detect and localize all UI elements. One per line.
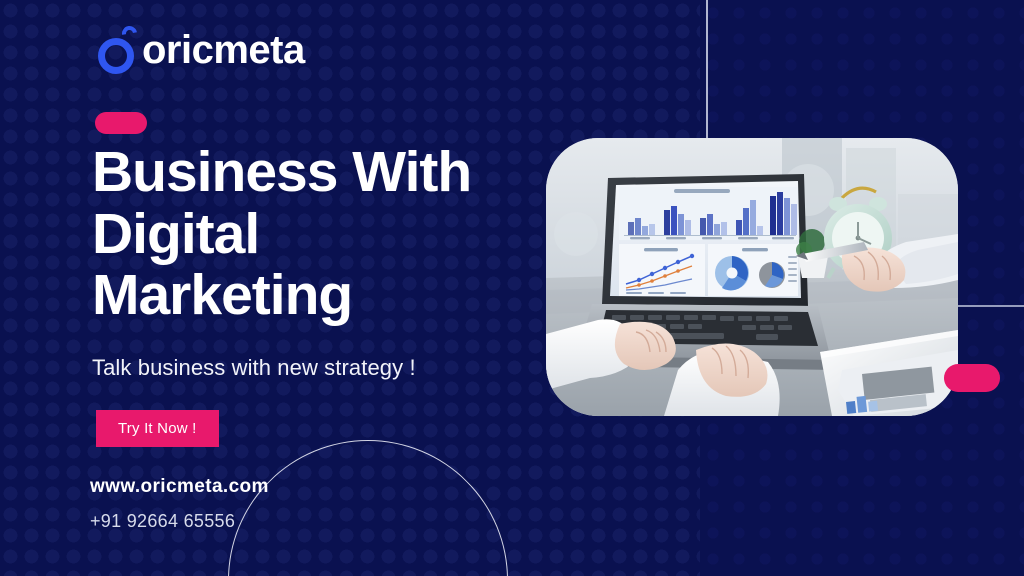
headline-line-2: Digital: [92, 204, 562, 266]
contact-info: www.oricmeta.com +91 92664 65556: [90, 476, 269, 532]
laptop-desk-illustration: [546, 138, 958, 416]
pink-pill-top-accent: [95, 112, 147, 134]
o-ring-logo-icon: [96, 26, 144, 74]
vertical-guide-line: [706, 0, 708, 142]
try-it-now-button[interactable]: Try It Now !: [96, 410, 219, 447]
hero-photo: [546, 138, 958, 416]
website-link[interactable]: www.oricmeta.com: [90, 476, 269, 498]
marketing-banner: oricmeta Business With Digital Marketing…: [0, 0, 1024, 576]
headline-line-1: Business With: [92, 142, 562, 204]
horizontal-guide-line: [956, 305, 1024, 307]
pink-pill-right-accent: [944, 364, 1000, 392]
brand-logo[interactable]: oricmeta: [96, 24, 305, 76]
tagline: Talk business with new strategy !: [92, 355, 416, 381]
page-title: Business With Digital Marketing: [92, 142, 562, 327]
phone-link[interactable]: +91 92664 65556: [90, 511, 269, 532]
brand-name: oricmeta: [142, 30, 305, 70]
logo-ring-shape: [98, 38, 134, 74]
headline-line-3: Marketing: [92, 265, 562, 327]
